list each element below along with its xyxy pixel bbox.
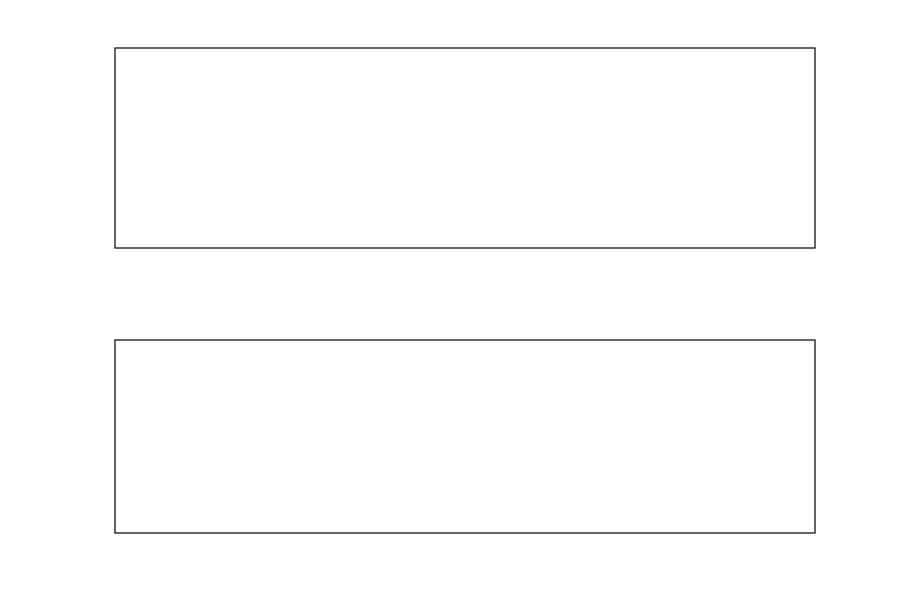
axis-box-bottom: [115, 340, 815, 533]
plot-area-tidal-height: [0, 0, 900, 600]
figure-canvas: [0, 0, 900, 600]
